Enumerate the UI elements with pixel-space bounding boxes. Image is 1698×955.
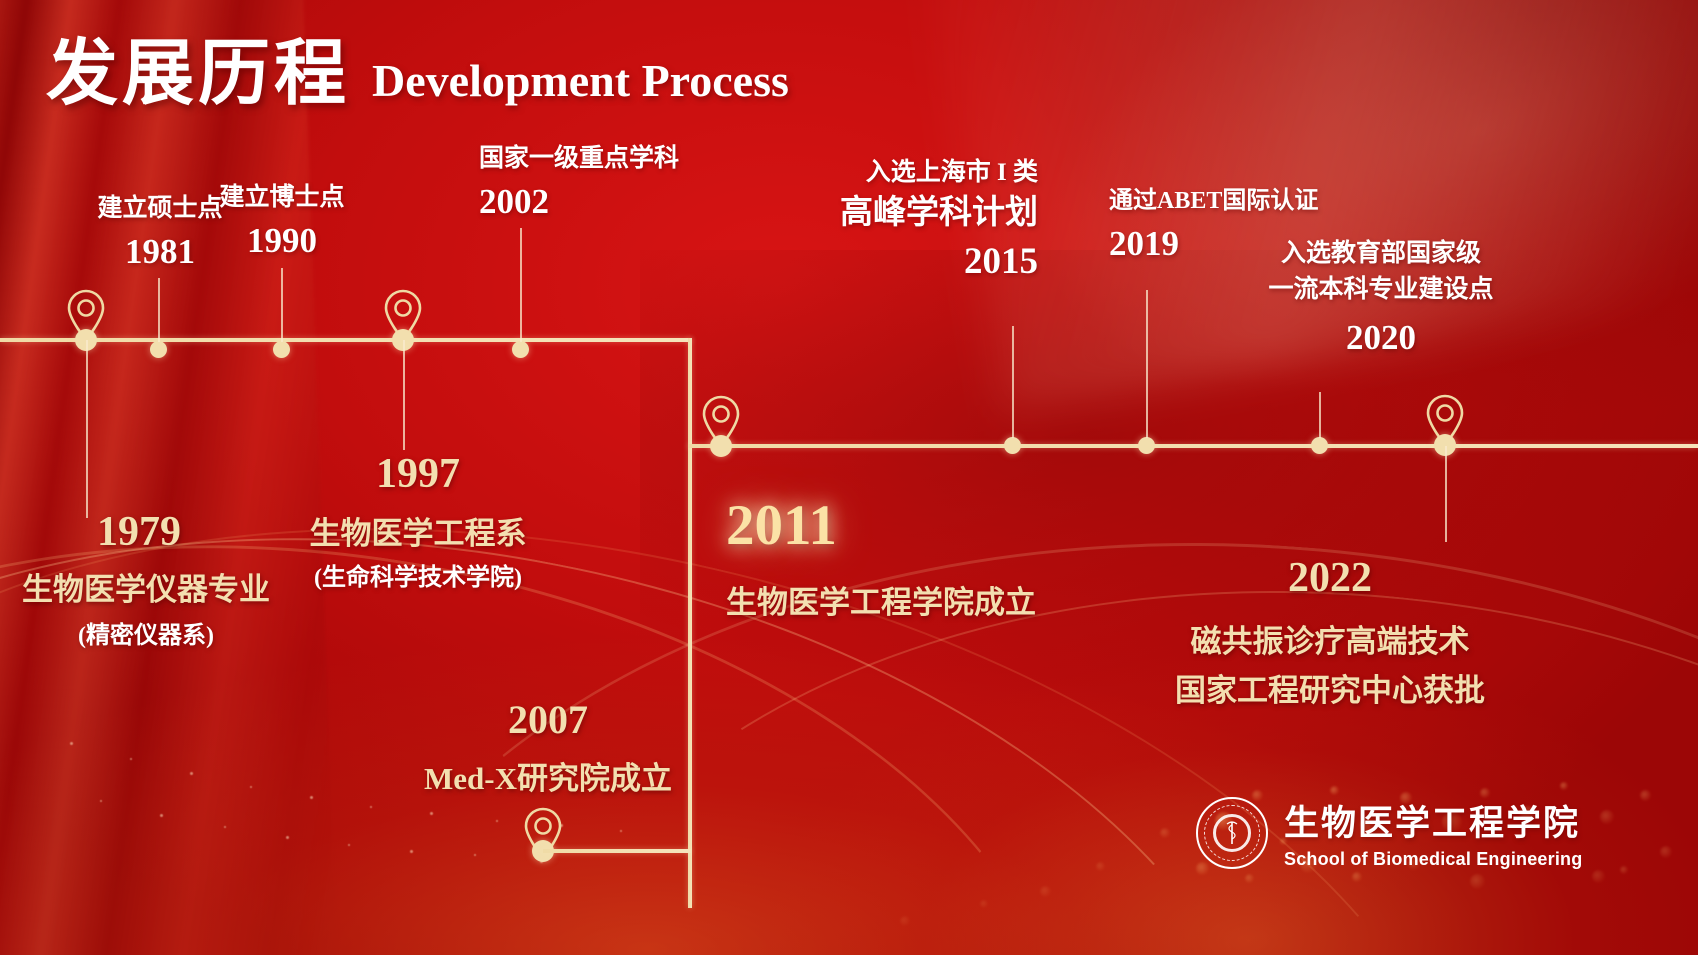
school-logo-text: 生物医学工程学院 School of Biomedical Engineerin… [1284,795,1582,870]
school-name-cn: 生物医学工程学院 [1284,795,1582,846]
bokeh-dot [1245,874,1254,883]
bokeh-dot [1592,870,1605,883]
event-year-2002: 2002 [479,180,679,225]
event-caption-2015-line2: 高峰学科计划 [800,192,1038,234]
timeline-rail-connector [688,338,692,908]
bokeh-dot [1640,790,1651,801]
sparkle-dot [190,772,193,775]
school-logo: 生物医学工程学院 School of Biomedical Engineerin… [1196,795,1582,870]
timeline-stem-2020 [1319,392,1321,438]
timeline-node-1990[interactable] [273,341,290,358]
timeline-stem-1979 [86,340,88,518]
event-caption-2022-line1: 磁共振诊疗高端技术 [1150,622,1510,662]
sparkle-dot [310,796,313,799]
timeline-stem-2019 [1146,290,1148,438]
bokeh-dot [900,916,910,926]
bokeh-dot [1470,874,1485,889]
bokeh-dot [1160,828,1170,838]
event-caption-2020-line2: 一流本科专业建设点 [1258,274,1504,306]
timeline-node-2002[interactable] [512,341,529,358]
event-caption-1979: 生物医学仪器专业 [10,570,282,610]
sparkle-dot [496,820,498,822]
event-label-2011: 2011 生物医学工程学院成立 [726,490,1036,623]
event-caption-2020-line1: 入选教育部国家级 [1258,238,1504,270]
timeline-stem-1997 [403,340,405,450]
event-year-1979: 1979 [10,506,268,560]
event-caption-2015-line1: 入选上海市 I 类 [800,157,1038,189]
page-title-cn: 发展历程 [46,38,350,110]
event-caption-2019: 通过ABET国际认证 [1109,186,1318,217]
school-seal-icon [1196,797,1268,869]
sparkle-dot [160,814,163,817]
bokeh-dot [1660,846,1672,858]
page-title-en: Development Process [372,58,789,110]
sparkle-dot [250,786,252,788]
caduceus-icon [1222,820,1242,846]
sparkle-dot [224,826,226,828]
event-label-2015: 入选上海市 I 类 高峰学科计划 2015 [800,157,1038,286]
event-label-2022: 2022 磁共振诊疗高端技术 国家工程研究中心获批 [1150,552,1510,711]
bokeh-dot [1560,782,1568,790]
event-year-2015: 2015 [800,238,1038,285]
timeline-node-2011[interactable] [710,435,732,457]
bokeh-dot [1600,810,1614,824]
timeline-rail-lower [688,444,1698,448]
timeline-node-1981[interactable] [150,341,167,358]
sparkle-dot [130,758,132,760]
timeline-node-2020[interactable] [1311,437,1328,454]
event-label-1997: 1997 生物医学工程系 (生命科学技术学院) [288,448,548,594]
sparkle-dot [474,854,476,856]
bokeh-dot [1352,872,1362,882]
sparkle-dot [410,850,413,853]
timeline-stem-1990 [281,268,283,342]
event-caption-2011: 生物医学工程学院成立 [726,583,1036,623]
event-label-2007: 2007 Med-X研究院成立 [398,694,698,799]
event-caption-2022-line2: 国家工程研究中心获批 [1150,671,1510,711]
event-caption-1990: 建立博士点 [192,182,372,214]
bokeh-dot [1040,886,1051,897]
event-label-2020: 入选教育部国家级 一流本科专业建设点 2020 [1258,238,1504,361]
event-caption-2007: Med-X研究院成立 [398,759,698,799]
bokeh-dot [1330,786,1339,795]
event-year-1997: 1997 [288,448,548,502]
event-caption-1997: 生物医学工程系 [288,514,548,554]
event-year-2007: 2007 [398,694,698,745]
bokeh-dot [1620,866,1628,874]
sparkle-dot [620,830,622,832]
event-year-1990: 1990 [192,219,372,264]
event-year-2020: 2020 [1258,316,1504,361]
sparkle-dot [348,844,350,846]
timeline-stem-2002 [520,228,522,342]
poster-canvas: 发展历程 Development Process [0,0,1698,955]
timeline-node-2019[interactable] [1138,437,1155,454]
sparkle-dot [286,836,289,839]
event-year-2022: 2022 [1150,552,1510,606]
event-label-1979: 1979 生物医学仪器专业 (精密仪器系) [10,506,282,652]
timeline-stem-2022 [1445,446,1447,542]
bokeh-dot [1096,862,1105,871]
sparkle-dot [370,806,372,808]
timeline-stem-1981 [158,278,160,342]
timeline-rail-2007-branch [543,849,691,853]
sparkle-dot [70,742,73,745]
event-note-1997: (生命科学技术学院) [288,563,548,594]
page-header: 发展历程 Development Process [46,38,789,110]
event-label-2002: 国家一级重点学科 2002 [479,143,679,225]
event-caption-2002: 国家一级重点学科 [479,143,679,175]
school-name-en: School of Biomedical Engineering [1284,849,1582,870]
sparkle-dot [100,800,102,802]
sparkle-dot [430,812,433,815]
timeline-stem-2015 [1012,326,1014,438]
bokeh-dot [980,900,988,908]
event-label-1990: 建立博士点 1990 [192,182,372,264]
event-year-2011: 2011 [726,490,1036,563]
timeline-node-2015[interactable] [1004,437,1021,454]
event-note-1979: (精密仪器系) [10,621,282,652]
